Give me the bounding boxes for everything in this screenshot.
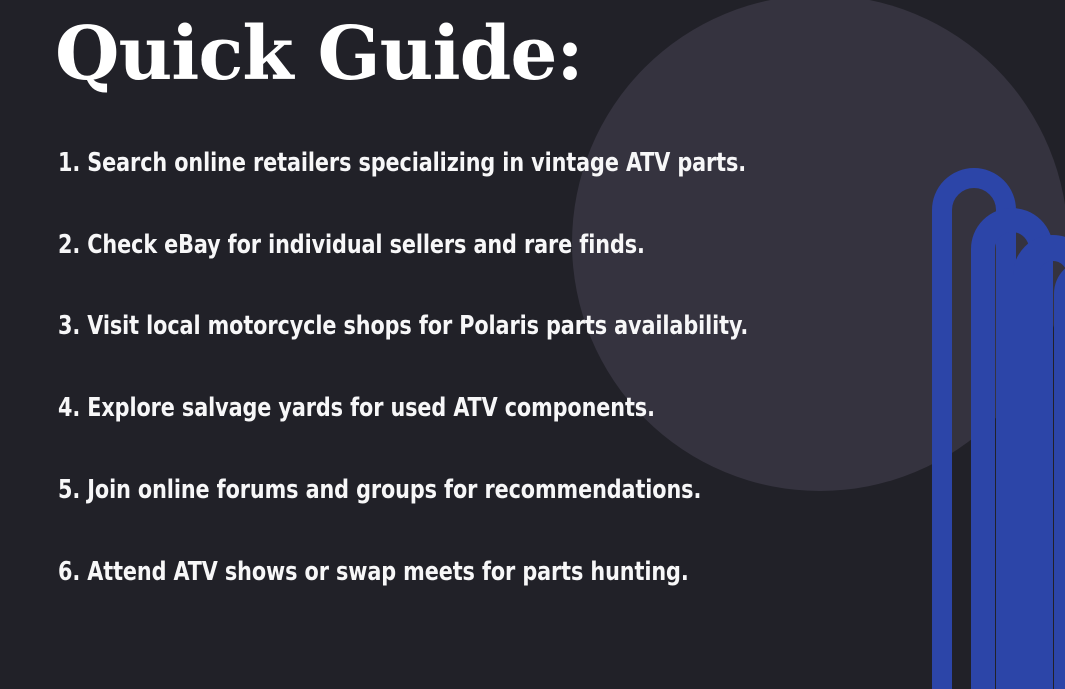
quick-guide-slide: Quick Guide: 1. Search online retailers … (0, 0, 1065, 689)
list-item: 1. Search online retailers specializing … (58, 150, 728, 178)
slide-content: Quick Guide: 1. Search online retailers … (0, 0, 1065, 689)
guide-steps-list: 1. Search online retailers specializing … (58, 150, 798, 586)
list-item: 2. Check eBay for individual sellers and… (58, 232, 728, 260)
list-item: 3. Visit local motorcycle shops for Pola… (58, 313, 728, 341)
list-item: 6. Attend ATV shows or swap meets for pa… (58, 559, 728, 587)
list-item: 5. Join online forums and groups for rec… (58, 477, 728, 505)
list-item: 4. Explore salvage yards for used ATV co… (58, 395, 728, 423)
page-title: Quick Guide: (55, 17, 583, 91)
